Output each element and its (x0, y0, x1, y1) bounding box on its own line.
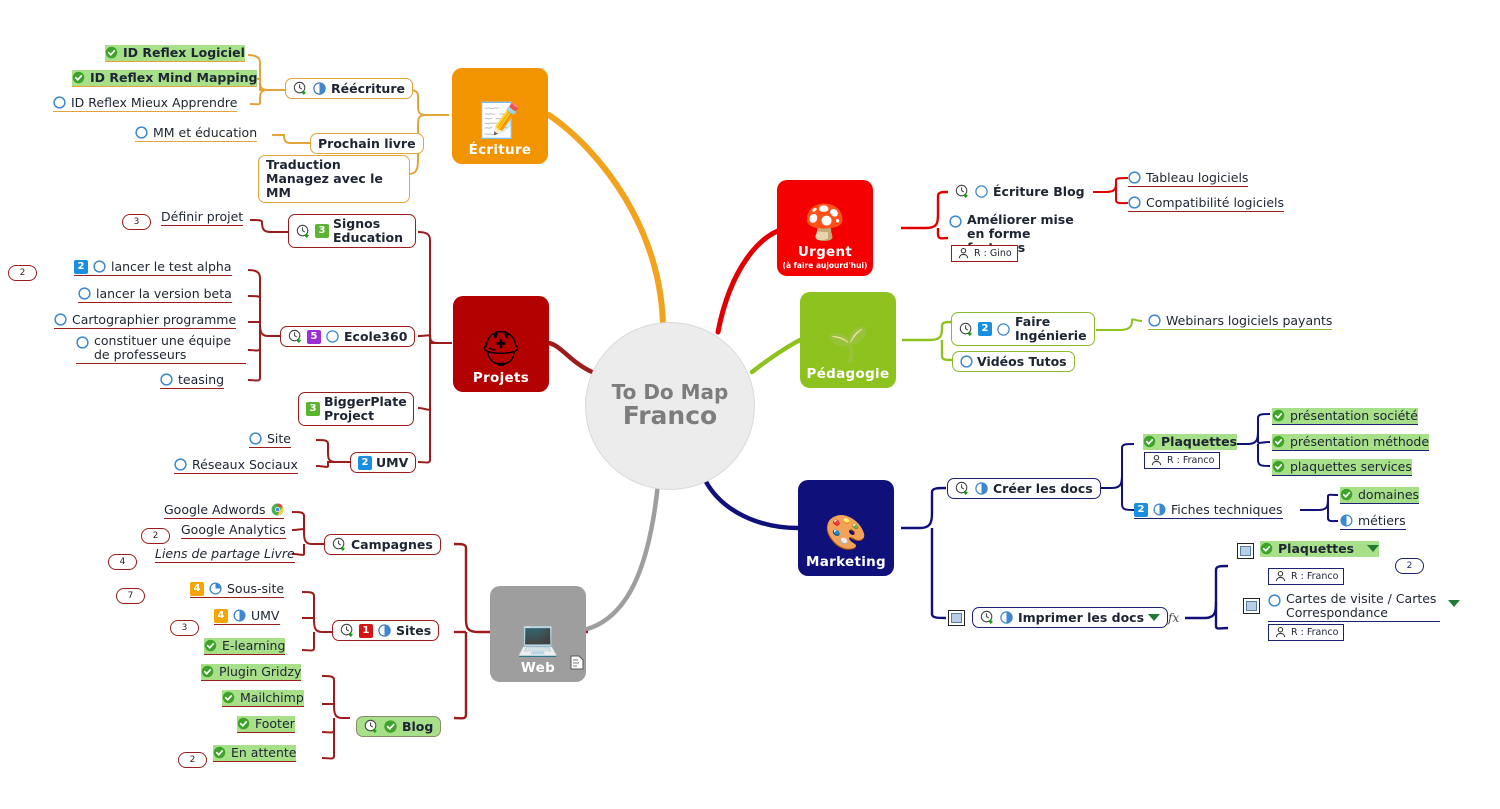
deadline-clock-icon (955, 184, 970, 199)
leaf-definir-projet[interactable]: Définir projet (161, 209, 243, 226)
leaf-teasing[interactable]: teasing (160, 372, 224, 389)
deadline-clock-icon (340, 623, 355, 638)
leaf-label: MM et éducation (153, 125, 257, 140)
leaf-constituer-equipe[interactable]: constituer une équipe de professeurs (76, 334, 246, 364)
branch-pedagogie-label: Pédagogie (807, 366, 890, 382)
topic-signos-education[interactable]: 3 Signos Education (288, 214, 416, 248)
relationship-value: 4 (120, 557, 126, 567)
resource-label: R : Gino (974, 248, 1012, 259)
leaf-site[interactable]: Site (249, 431, 291, 448)
leaf-compatibilite-logiciels[interactable]: Compatibilité logiciels (1128, 195, 1284, 212)
cartes-note-marker[interactable] (1243, 598, 1260, 614)
branch-projets-label: Projets (473, 370, 529, 386)
leaf-label: Tableau logiciels (1146, 170, 1248, 185)
laptop-icon: 💻 (517, 622, 559, 656)
leaf-metiers[interactable]: métiers (1340, 513, 1406, 530)
central-title-line2: Franco (623, 403, 717, 429)
leaf-liens-partage-livre[interactable]: Liens de partage Livre (155, 546, 295, 563)
leaf-label: ID Reflex Logiciel (123, 45, 245, 60)
leaf-label: Footer (255, 716, 295, 731)
topic-campagnes-label: Campagnes (351, 537, 433, 552)
leaf-cartographier-programme[interactable]: Cartographier programme (54, 312, 236, 329)
task-open-icon (160, 373, 173, 386)
topic-creer-les-docs-label: Créer les docs (993, 481, 1093, 496)
deadline-clock-icon (332, 537, 347, 552)
resource-tag-franco-1[interactable]: R : Franco (1144, 452, 1220, 469)
leaf-label: teasing (178, 372, 224, 387)
deadline-clock-icon (959, 322, 974, 337)
mindmap-canvas: To Do Map Franco 📝 Écriture ⛑ Projets 💻 … (0, 0, 1500, 809)
resource-label: R : Franco (1167, 455, 1214, 466)
leaf-label: Webinars logiciels payants (1166, 313, 1332, 328)
chevron-down-icon[interactable] (1148, 614, 1160, 621)
progress-half-icon (377, 623, 392, 638)
chevron-down-icon[interactable] (1367, 545, 1379, 552)
relationship-value: 2 (190, 755, 196, 765)
relationship-number[interactable]: 4 (108, 554, 137, 570)
leaf-id-reflex-mieux-apprendre[interactable]: ID Reflex Mieux Apprendre (53, 95, 237, 112)
check-done-icon (72, 71, 85, 84)
check-done-icon (1340, 488, 1353, 501)
leaf-lancer-test-alpha[interactable]: 2 lancer le test alpha (74, 259, 232, 276)
leaf-label: présentation méthode (1290, 434, 1429, 449)
relationship-number[interactable]: 2 (1395, 558, 1424, 574)
leaf-id-reflex-mind-mapping[interactable]: ID Reflex Mind Mapping (72, 70, 257, 87)
relationship-number[interactable]: 2 (141, 528, 170, 544)
leaf-cartes-de-visite[interactable]: Cartes de visite / Cartes Correspondance (1268, 592, 1440, 622)
leaf-label: présentation société (1290, 408, 1418, 423)
task-open-icon (135, 126, 148, 139)
resource-tag-franco-2[interactable]: R : Franco (1268, 568, 1344, 585)
topic-traduction-managez[interactable]: Traduction Managez avec le MM (258, 155, 410, 203)
leaf-label: constituer une équipe de professeurs (94, 334, 246, 362)
leaf-label: E-learning (222, 638, 285, 653)
leaf-webinars-logiciels-payants[interactable]: Webinars logiciels payants (1148, 313, 1332, 330)
progress-icon (996, 322, 1011, 337)
branch-pedagogie[interactable]: 🌱 Pédagogie (800, 292, 896, 388)
priority-badge: 4 (190, 582, 204, 596)
task-open-icon (174, 458, 187, 471)
relationship-value: 7 (128, 591, 134, 601)
resource-label: R : Franco (1291, 627, 1338, 638)
palette-icon: 🎨 (825, 516, 867, 550)
sprout-icon: 🌱 (827, 328, 869, 362)
check-done-icon (213, 746, 226, 759)
person-icon (1274, 570, 1287, 583)
leaf-domaines[interactable]: domaines (1340, 487, 1419, 504)
person-icon (1274, 626, 1287, 639)
explosion-icon: 🍄 (804, 206, 846, 240)
topic-imprimer-les-docs[interactable]: Imprimer les docs (972, 607, 1168, 628)
topic-faire-ingenierie[interactable]: 2 Faire Ingénierie (951, 312, 1095, 346)
leaf-label: Site (267, 431, 291, 446)
leaf-google-analytics[interactable]: Google Analytics (181, 522, 286, 539)
topic-signos-label: Signos Education (333, 217, 408, 245)
leaf-label: lancer le test alpha (111, 259, 232, 274)
formula-indicator: fx (1168, 611, 1179, 625)
check-done-icon (1272, 409, 1285, 422)
leaf-label: Définir projet (161, 209, 243, 224)
note-icon (951, 613, 962, 623)
leaf-label: plaquettes services (1290, 459, 1412, 474)
topic-ecriture-blog[interactable]: Écriture Blog (948, 182, 1092, 201)
note-icon (1240, 546, 1251, 556)
central-topic[interactable]: To Do Map Franco (585, 322, 755, 490)
leaf-label: Fiches techniques (1171, 502, 1283, 517)
branch-ecriture[interactable]: 📝 Écriture (452, 68, 548, 164)
leaf-label: Plugin Gridzy (219, 664, 301, 679)
hard-hat-icon: ⛑ (479, 332, 522, 366)
progress-icon (325, 329, 340, 344)
leaf-label: métiers (1358, 513, 1406, 528)
progress-icon (974, 481, 989, 496)
progress-half-icon (312, 81, 327, 96)
check-done-icon (105, 46, 118, 59)
priority-badge: 2 (978, 322, 992, 336)
leaf-label: Plaquettes (1278, 541, 1354, 556)
leaf-plugin-gridzy[interactable]: Plugin Gridzy (201, 664, 301, 681)
topic-reecriture[interactable]: Réécriture (285, 78, 413, 99)
leaf-mm-et-education[interactable]: MM et éducation (135, 125, 257, 142)
relationship-number[interactable]: 7 (116, 588, 145, 604)
branch-marketing-label: Marketing (806, 554, 886, 570)
leaf-plaquettes-services[interactable]: plaquettes services (1272, 459, 1412, 476)
relationship-value: 3 (182, 623, 188, 633)
progress-half-icon (233, 609, 246, 622)
check-done-icon (383, 719, 398, 734)
leaf-label: Mailchimp (240, 690, 304, 705)
topic-faire-ingenierie-label: Faire Ingénierie (1015, 315, 1087, 343)
deadline-clock-icon (980, 610, 995, 625)
imprimer-note-marker[interactable] (948, 610, 965, 626)
check-done-icon (222, 691, 235, 704)
leaf-id-reflex-logiciel[interactable]: ID Reflex Logiciel (105, 45, 245, 62)
relationship-number[interactable]: 2 (8, 265, 37, 281)
priority-badge: 2 (74, 260, 88, 274)
leaf-plaquettes-creer[interactable]: Plaquettes (1143, 434, 1237, 450)
chrome-icon (271, 503, 284, 516)
topic-ecole360-label: Ecole360 (344, 329, 407, 344)
leaf-label: Liens de partage Livre (155, 546, 295, 561)
branch-urgent[interactable]: 🍄 Urgent (à faire aujourd'hui) (777, 180, 873, 276)
relationship-value: 2 (20, 268, 26, 278)
leaf-label: Compatibilité logiciels (1146, 195, 1284, 210)
leaf-footer[interactable]: Footer (237, 716, 295, 733)
topic-campagnes[interactable]: Campagnes (324, 534, 441, 555)
progress-half-icon (999, 610, 1014, 625)
resource-tag-gino[interactable]: R : Gino (951, 245, 1018, 262)
topic-biggerplate-label: BiggerPlate Project (324, 395, 407, 423)
topic-sites-label: Sites (396, 623, 431, 638)
task-open-icon (1148, 314, 1161, 327)
priority-badge: 3 (306, 402, 320, 416)
branch-urgent-sublabel: (à faire aujourd'hui) (783, 261, 868, 270)
priority-badge: 3 (315, 224, 329, 238)
relationship-number[interactable]: 2 (178, 752, 207, 768)
deadline-clock-icon (293, 81, 308, 96)
leaf-label: Google Analytics (181, 522, 286, 537)
topic-prochain-livre[interactable]: Prochain livre (310, 133, 424, 154)
topic-ecriture-blog-label: Écriture Blog (993, 184, 1085, 199)
topic-sites[interactable]: 1 Sites (332, 620, 439, 641)
leaf-label: lancer la version beta (96, 286, 232, 301)
note-icon (1246, 601, 1257, 611)
web-note-marker[interactable] (570, 655, 584, 674)
check-done-icon (1143, 435, 1156, 448)
topic-reecriture-label: Réécriture (331, 81, 405, 96)
deadline-clock-icon (955, 481, 970, 496)
topic-biggerplate-project[interactable]: 3 BiggerPlate Project (298, 392, 414, 426)
deadline-clock-icon (288, 329, 303, 344)
leaf-presentation-methode[interactable]: présentation méthode (1272, 434, 1429, 451)
task-open-icon (54, 313, 67, 326)
plaquettes-note-marker[interactable] (1237, 543, 1254, 559)
resource-label: R : Franco (1291, 571, 1338, 582)
check-done-icon (237, 717, 250, 730)
progress-icon (209, 582, 222, 595)
task-open-icon (1268, 594, 1281, 607)
central-title-line1: To Do Map (612, 382, 729, 403)
resource-tag-franco-3[interactable]: R : Franco (1268, 624, 1344, 641)
task-open-icon (1128, 171, 1141, 184)
topic-videos-tutos[interactable]: Vidéos Tutos (952, 351, 1075, 372)
branch-marketing[interactable]: 🎨 Marketing (798, 480, 894, 576)
branch-ecriture-label: Écriture (469, 142, 532, 158)
leaf-tableau-logiciels[interactable]: Tableau logiciels (1128, 170, 1248, 187)
chevron-down-icon[interactable] (1448, 600, 1460, 607)
relationship-number[interactable]: 3 (170, 620, 199, 636)
leaf-label: UMV (251, 608, 280, 623)
leaf-label: En attente (231, 745, 296, 760)
check-done-icon (204, 639, 217, 652)
leaf-sous-site[interactable]: 4 Sous-site (190, 581, 284, 598)
branch-web-label: Web (521, 660, 555, 676)
leaf-plaquettes-imprimer[interactable]: Plaquettes (1260, 541, 1379, 557)
note-pencil-icon: 📝 (479, 104, 521, 138)
topic-traduction-managez-label: Traduction Managez avec le MM (266, 158, 402, 200)
leaf-fiches-techniques[interactable]: 2 Fiches techniques (1134, 502, 1283, 519)
task-open-icon (1128, 196, 1141, 209)
leaf-label: Plaquettes (1161, 434, 1237, 449)
task-open-icon (960, 355, 973, 368)
leaf-label: Cartes de visite / Cartes Correspondance (1286, 592, 1440, 620)
topic-umv-projets[interactable]: 2 UMV (350, 452, 416, 473)
priority-badge: 1 (359, 624, 373, 638)
check-done-icon (1260, 542, 1273, 555)
topic-blog[interactable]: Blog (356, 716, 441, 737)
check-done-icon (1272, 435, 1285, 448)
topic-videos-tutos-label: Vidéos Tutos (977, 354, 1067, 369)
task-open-icon (76, 336, 89, 349)
priority-badge: 2 (1134, 503, 1148, 517)
relationship-number[interactable]: 3 (122, 214, 151, 230)
deadline-clock-icon (296, 224, 311, 239)
deadline-clock-icon (364, 719, 379, 734)
leaf-label: ID Reflex Mind Mapping (90, 70, 257, 85)
leaf-lancer-version-beta[interactable]: lancer la version beta (78, 286, 232, 303)
relationship-value: 3 (134, 217, 140, 227)
check-done-icon (201, 665, 214, 678)
task-open-icon (78, 287, 91, 300)
topic-imprimer-les-docs-label: Imprimer les docs (1018, 610, 1144, 625)
person-icon (957, 247, 970, 260)
topic-prochain-livre-label: Prochain livre (318, 136, 416, 151)
leaf-label: Cartographier programme (72, 312, 236, 327)
relationship-value: 2 (1407, 561, 1413, 571)
leaf-reseaux-sociaux[interactable]: Réseaux Sociaux (174, 457, 298, 474)
leaf-presentation-societe[interactable]: présentation société (1272, 408, 1418, 425)
task-open-icon (53, 96, 66, 109)
priority-badge: 2 (358, 456, 372, 470)
leaf-umv-web[interactable]: 4 UMV (214, 608, 280, 625)
priority-badge: 5 (307, 330, 321, 344)
leaf-mailchimp[interactable]: Mailchimp (222, 690, 304, 707)
progress-icon (974, 184, 989, 199)
relationship-value: 2 (153, 531, 159, 541)
topic-ecole360[interactable]: 5 Ecole360 (280, 326, 415, 347)
leaf-label: domaines (1358, 487, 1419, 502)
leaf-label: Google Adwords (164, 502, 266, 517)
topic-blog-label: Blog (402, 719, 433, 734)
leaf-en-attente[interactable]: En attente (213, 745, 296, 762)
progress-half-icon (1153, 503, 1166, 516)
task-open-icon (249, 432, 262, 445)
priority-badge: 4 (214, 609, 228, 623)
person-icon (1150, 454, 1163, 467)
leaf-label: Réseaux Sociaux (192, 457, 298, 472)
branch-urgent-label: Urgent (798, 244, 852, 260)
leaf-label: ID Reflex Mieux Apprendre (71, 95, 237, 110)
task-open-icon (949, 215, 962, 228)
check-done-icon (1272, 460, 1285, 473)
topic-creer-les-docs[interactable]: Créer les docs (947, 478, 1101, 499)
task-open-icon (93, 260, 106, 273)
progress-half-icon (1340, 514, 1353, 527)
branch-projets[interactable]: ⛑ Projets (453, 296, 549, 392)
leaf-e-learning[interactable]: E-learning (204, 638, 285, 655)
leaf-google-adwords[interactable]: Google Adwords (164, 502, 284, 519)
topic-umv-label: UMV (376, 455, 408, 470)
leaf-label: Sous-site (227, 581, 284, 596)
